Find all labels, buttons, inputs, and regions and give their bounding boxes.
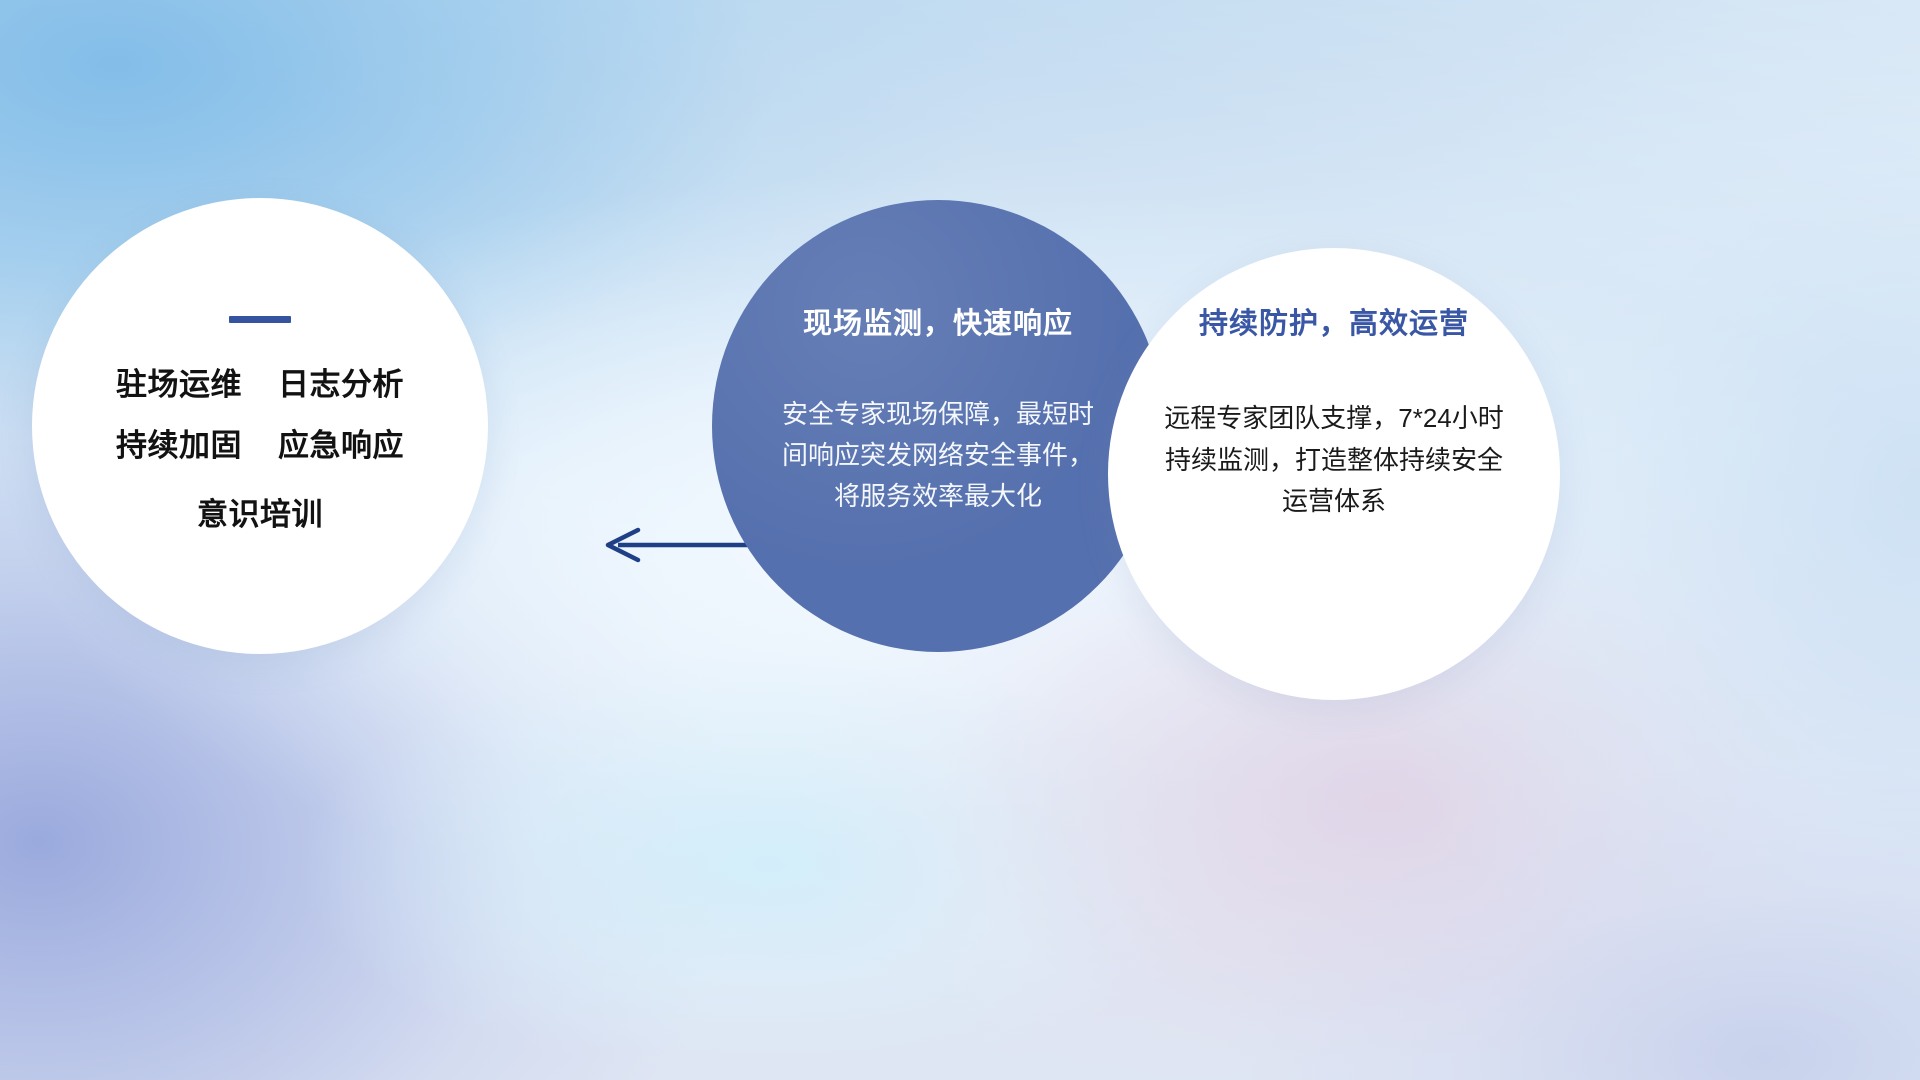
keyword-item: 驻场运维: [116, 369, 242, 400]
onsite-monitoring-circle: 现场监测，快速响应 安全专家现场保障，最短时间响应突发网络安全事件，将服务效率最…: [712, 200, 1164, 652]
keyword-row: 意识培训: [197, 499, 323, 530]
keyword-row: 驻场运维 日志分析: [116, 369, 404, 400]
onsite-monitoring-body: 安全专家现场保障，最短时间响应突发网络安全事件，将服务效率最大化: [773, 394, 1103, 517]
keyword-row: 持续加固 应急响应: [116, 430, 404, 461]
title-divider-dash: [229, 316, 291, 323]
onsite-monitoring-title: 现场监测，快速响应: [803, 300, 1073, 342]
keyword-item: 应急响应: [278, 430, 404, 461]
keyword-item: 持续加固: [116, 430, 242, 461]
keyword-item: 意识培训: [197, 499, 323, 530]
continuous-protection-circle: 持续防护，高效运营 远程专家团队支撑，7*24小时持续监测，打造整体持续安全运营…: [1108, 248, 1560, 700]
slide-canvas: 驻场运维 日志分析 持续加固 应急响应 意识培训 现场监测，快速响应 安全专家现…: [0, 0, 1920, 1080]
continuous-protection-title: 持续防护，高效运营: [1199, 300, 1469, 342]
keyword-item: 日志分析: [278, 369, 404, 400]
capabilities-circle: 驻场运维 日志分析 持续加固 应急响应 意识培训: [32, 198, 488, 654]
continuous-protection-body: 远程专家团队支撑，7*24小时持续监测，打造整体持续安全运营体系: [1158, 398, 1510, 523]
